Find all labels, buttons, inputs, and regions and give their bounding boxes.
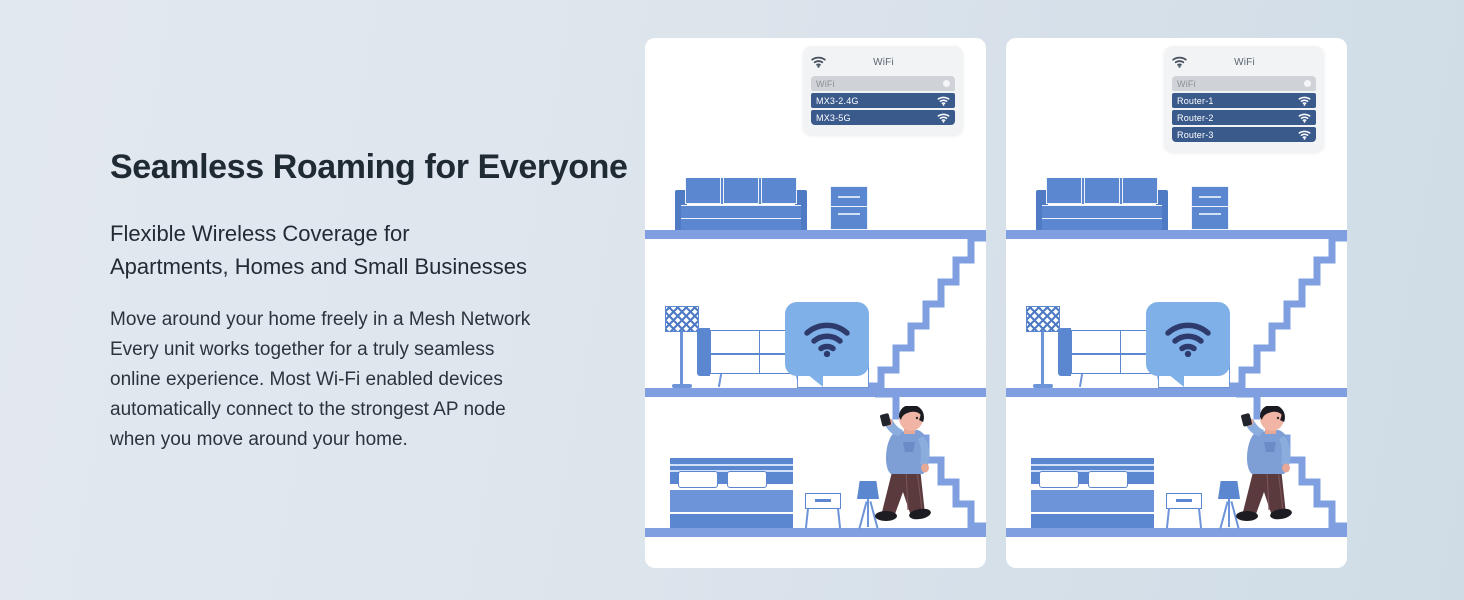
stool-leg-left: [805, 508, 809, 528]
stool-top: [1166, 493, 1202, 509]
standing-lamp-leg-left: [858, 501, 867, 528]
wifi-network-ssid: MX3-2.4G: [816, 96, 859, 106]
illustration-card-left: WiFi WiFi MX3-2.4G: [645, 38, 986, 568]
wifi-icon: [1172, 56, 1187, 68]
bed-base: [1031, 514, 1154, 528]
wifi-network-item[interactable]: Router-2: [1172, 110, 1316, 125]
bed-mattress: [1031, 490, 1154, 512]
stool-top: [805, 493, 841, 509]
couch-back: [697, 328, 710, 376]
floor-lamp-icon: [665, 306, 699, 332]
bed-base: [670, 514, 793, 528]
staircase-upper-icon: [1214, 234, 1347, 390]
bed-pillow-right: [1088, 471, 1128, 488]
floor-divider-upper: [1006, 230, 1347, 239]
wifi-network-item[interactable]: Router-1: [1172, 93, 1316, 108]
wifi-network-list-left: WiFi MX3-2.4G MX3-5G: [811, 76, 955, 125]
wifi-signal-bubble-icon: [785, 302, 869, 376]
sofa-backrest: [1046, 178, 1158, 204]
floor-divider-upper: [645, 230, 986, 239]
wifi-network-ssid: Router-3: [1177, 130, 1214, 140]
sofa-seat: [1042, 205, 1162, 218]
body-line-5: when you move around your home.: [110, 425, 630, 455]
sofa-backrest: [685, 178, 797, 204]
wifi-toggle-label: WiFi: [816, 79, 835, 89]
stool-leg-right: [1198, 508, 1202, 528]
wifi-panel-header: WiFi: [811, 53, 955, 71]
wifi-toggle-knob[interactable]: [1304, 80, 1311, 87]
wifi-network-ssid: MX3-5G: [816, 113, 851, 123]
subheading: Flexible Wireless Coverage for Apartment…: [110, 217, 630, 283]
wifi-waves-icon: [1165, 321, 1211, 357]
sofa-icon: [675, 178, 807, 230]
standing-lamp-leg-left: [1219, 501, 1228, 528]
wifi-network-item[interactable]: MX3-2.4G: [811, 93, 955, 108]
body-paragraph: Move around your home freely in a Mesh N…: [110, 305, 630, 455]
bed-icon: [1031, 458, 1154, 528]
wifi-network-ssid: Router-2: [1177, 113, 1214, 123]
lamp-pole: [680, 332, 683, 386]
bed-mattress: [670, 490, 793, 512]
wifi-signal-bubble-icon: [1146, 302, 1230, 376]
couch-leg-left: [1079, 374, 1083, 387]
lamp-foot: [672, 384, 692, 388]
wifi-panel-header: WiFi: [1172, 53, 1316, 71]
wifi-signal-icon: [1298, 130, 1311, 140]
lamp-shade: [665, 306, 699, 332]
wifi-icon: [811, 56, 826, 68]
couch-leg-left: [718, 374, 722, 387]
copy-column: Seamless Roaming for Everyone Flexible W…: [110, 148, 630, 455]
stool-icon: [1166, 493, 1202, 528]
wifi-signal-icon: [937, 96, 950, 106]
floor-divider-middle: [645, 388, 986, 397]
sofa-base: [681, 218, 801, 230]
floor-divider-middle: [1006, 388, 1347, 397]
standing-lamp-stem: [1228, 499, 1230, 527]
body-line-4: automatically connect to the strongest A…: [110, 395, 630, 425]
person-with-phone-illustration: [1234, 406, 1320, 530]
wifi-network-item[interactable]: MX3-5G: [811, 110, 955, 125]
stool-icon: [805, 493, 841, 528]
couch-back: [1058, 328, 1071, 376]
lamp-pole: [1041, 332, 1044, 386]
bed-icon: [670, 458, 793, 528]
wifi-signal-icon: [1298, 96, 1311, 106]
wifi-toggle-knob[interactable]: [943, 80, 950, 87]
illustration-cards: WiFi WiFi MX3-2.4G: [645, 38, 1347, 568]
wifi-toggle-row[interactable]: WiFi: [811, 76, 955, 91]
wifi-panel-title: WiFi: [1187, 57, 1302, 68]
floor-lamp-icon: [1026, 306, 1060, 332]
body-line-3: online experience. Most Wi-Fi enabled de…: [110, 365, 630, 395]
sofa-icon: [1036, 178, 1168, 230]
bed-pillow-left: [1039, 471, 1079, 488]
stool-leg-left: [1166, 508, 1170, 528]
wifi-signal-icon: [937, 113, 950, 123]
subheading-line-2: Apartments, Homes and Small Businesses: [110, 250, 630, 283]
body-line-1: Move around your home freely in a Mesh N…: [110, 305, 630, 335]
wifi-network-list-right: WiFi Router-1 Router-2: [1172, 76, 1316, 142]
bed-pillow-right: [727, 471, 767, 488]
body-line-2: Every unit works together for a truly se…: [110, 335, 630, 365]
wifi-toggle-label: WiFi: [1177, 79, 1196, 89]
wifi-settings-panel-right[interactable]: WiFi WiFi Router-1: [1164, 46, 1324, 152]
promo-banner: Seamless Roaming for Everyone Flexible W…: [0, 0, 1464, 600]
lamp-foot: [1033, 384, 1053, 388]
nightstand-icon: [1191, 186, 1229, 230]
person-with-phone-illustration: [873, 406, 959, 530]
wifi-settings-panel-left[interactable]: WiFi WiFi MX3-2.4G: [803, 46, 963, 135]
wifi-toggle-row[interactable]: WiFi: [1172, 76, 1316, 91]
sofa-seat: [681, 205, 801, 218]
lamp-shade: [1026, 306, 1060, 332]
wifi-signal-icon: [1298, 113, 1311, 123]
subheading-line-1: Flexible Wireless Coverage for: [110, 217, 630, 250]
wifi-panel-title: WiFi: [826, 57, 941, 68]
illustration-card-right: WiFi WiFi Router-1: [1006, 38, 1347, 568]
nightstand-icon: [830, 186, 868, 230]
stool-leg-right: [837, 508, 841, 528]
wifi-waves-icon: [804, 321, 850, 357]
wifi-network-ssid: Router-1: [1177, 96, 1214, 106]
standing-lamp-stem: [867, 499, 869, 527]
sofa-base: [1042, 218, 1162, 230]
wifi-network-item[interactable]: Router-3: [1172, 127, 1316, 142]
page-title: Seamless Roaming for Everyone: [110, 148, 630, 187]
bed-pillow-left: [678, 471, 718, 488]
staircase-upper-icon: [853, 234, 986, 390]
